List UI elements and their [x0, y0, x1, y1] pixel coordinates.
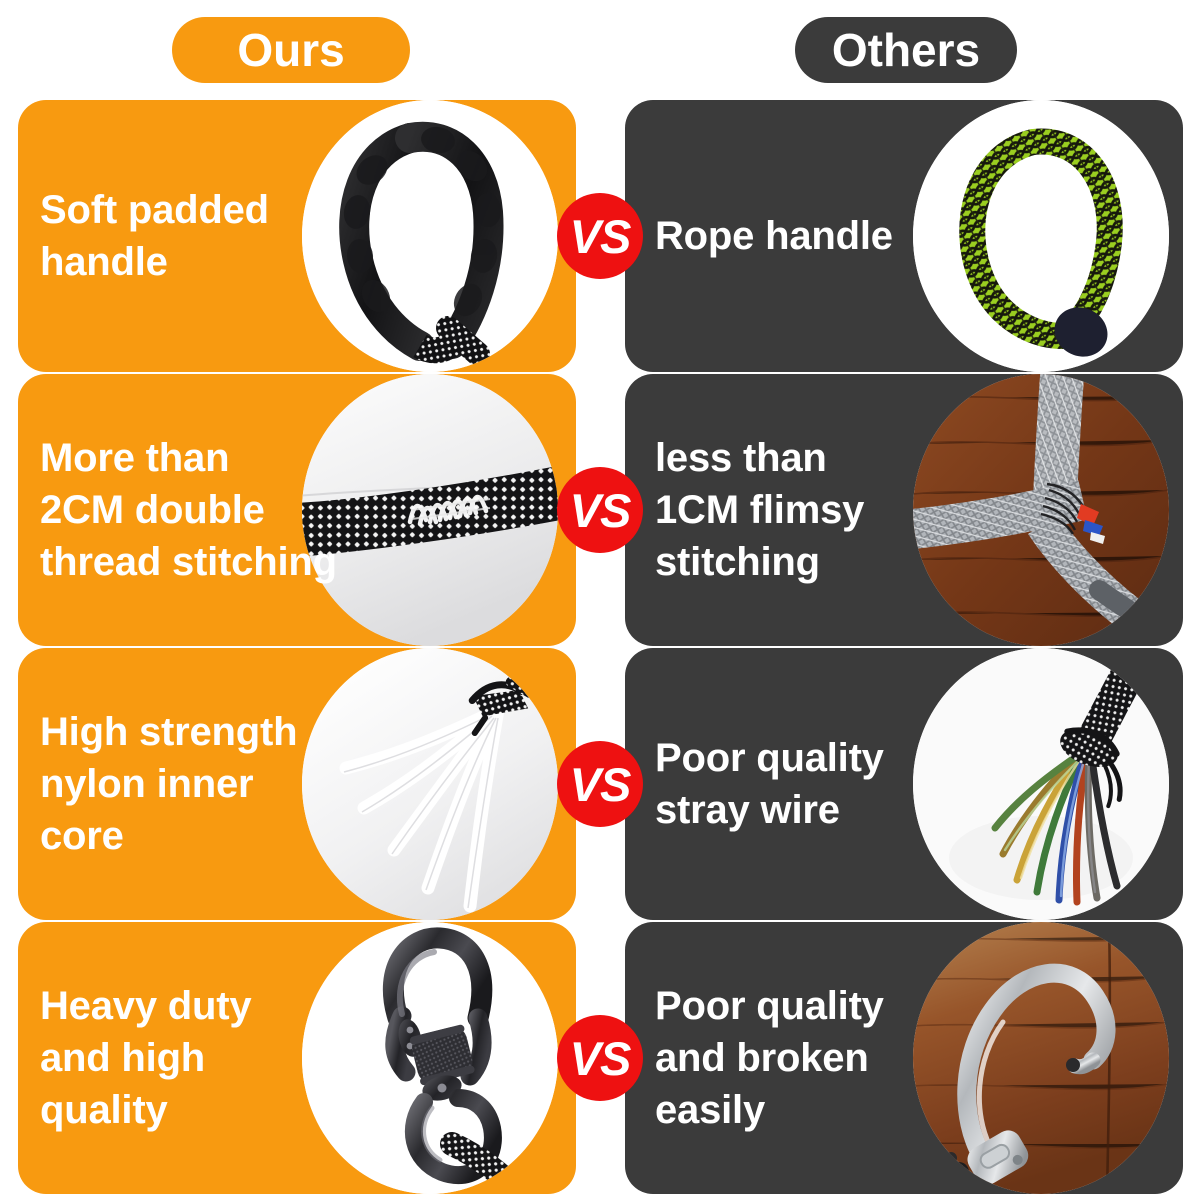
vs-badge: VS: [557, 741, 643, 827]
ours-card-label: High strength nylon inner core: [40, 706, 340, 862]
ours-card: High strength nylon inner core: [18, 648, 576, 920]
vs-badge: VS: [557, 1015, 643, 1101]
black-padded-loop-handle-photo: [302, 100, 558, 372]
others-card-label: Poor quality stray wire: [655, 732, 955, 836]
comparison-infographic: Ours Others Soft padded handle: [0, 0, 1200, 1200]
vs-badge: VS: [557, 193, 643, 279]
ours-card-photo: [302, 922, 558, 1194]
others-card-label: Rope handle: [655, 210, 955, 262]
vs-badge: VS: [557, 467, 643, 553]
comparison-row: High strength nylon inner core: [0, 648, 1200, 920]
white-nylon-inner-core-strands-photo: [302, 648, 558, 920]
black-swivel-carabiner-clip-photo: [302, 922, 558, 1194]
others-card-label: less than 1CM flimsy stitching: [655, 432, 955, 588]
column-headers: Ours Others: [0, 0, 1200, 96]
ours-card-photo: [302, 374, 558, 646]
ours-card: Heavy duty and high quality: [18, 922, 576, 1194]
header-badge-others: Others: [795, 17, 1017, 83]
comparison-row: More than 2CM double thread stitching: [0, 374, 1200, 646]
ours-card-label: Heavy duty and high quality: [40, 980, 340, 1136]
header-badge-ours-label: Ours: [237, 27, 344, 73]
black-white-braided-rope-stitching-photo: [302, 374, 558, 646]
ours-card-label: Soft padded handle: [40, 184, 340, 288]
others-card-label: Poor quality and broken easily: [655, 980, 955, 1136]
others-card: less than 1CM flimsy stitching: [625, 374, 1183, 646]
ours-card-label: More than 2CM double thread stitching: [40, 432, 340, 588]
ours-card-photo: [302, 100, 558, 372]
ours-card: More than 2CM double thread stitching: [18, 374, 576, 646]
others-card: Rope handle: [625, 100, 1183, 372]
header-badge-others-label: Others: [832, 27, 980, 73]
ours-card-photo: [302, 648, 558, 920]
ours-card: Soft padded handle: [18, 100, 576, 372]
others-card: Poor quality stray wire: [625, 648, 1183, 920]
comparison-row: Soft padded handle: [0, 100, 1200, 372]
others-card: Poor quality and broken easily: [625, 922, 1183, 1194]
header-badge-ours: Ours: [172, 17, 410, 83]
comparison-row: Heavy duty and high quality: [0, 922, 1200, 1194]
